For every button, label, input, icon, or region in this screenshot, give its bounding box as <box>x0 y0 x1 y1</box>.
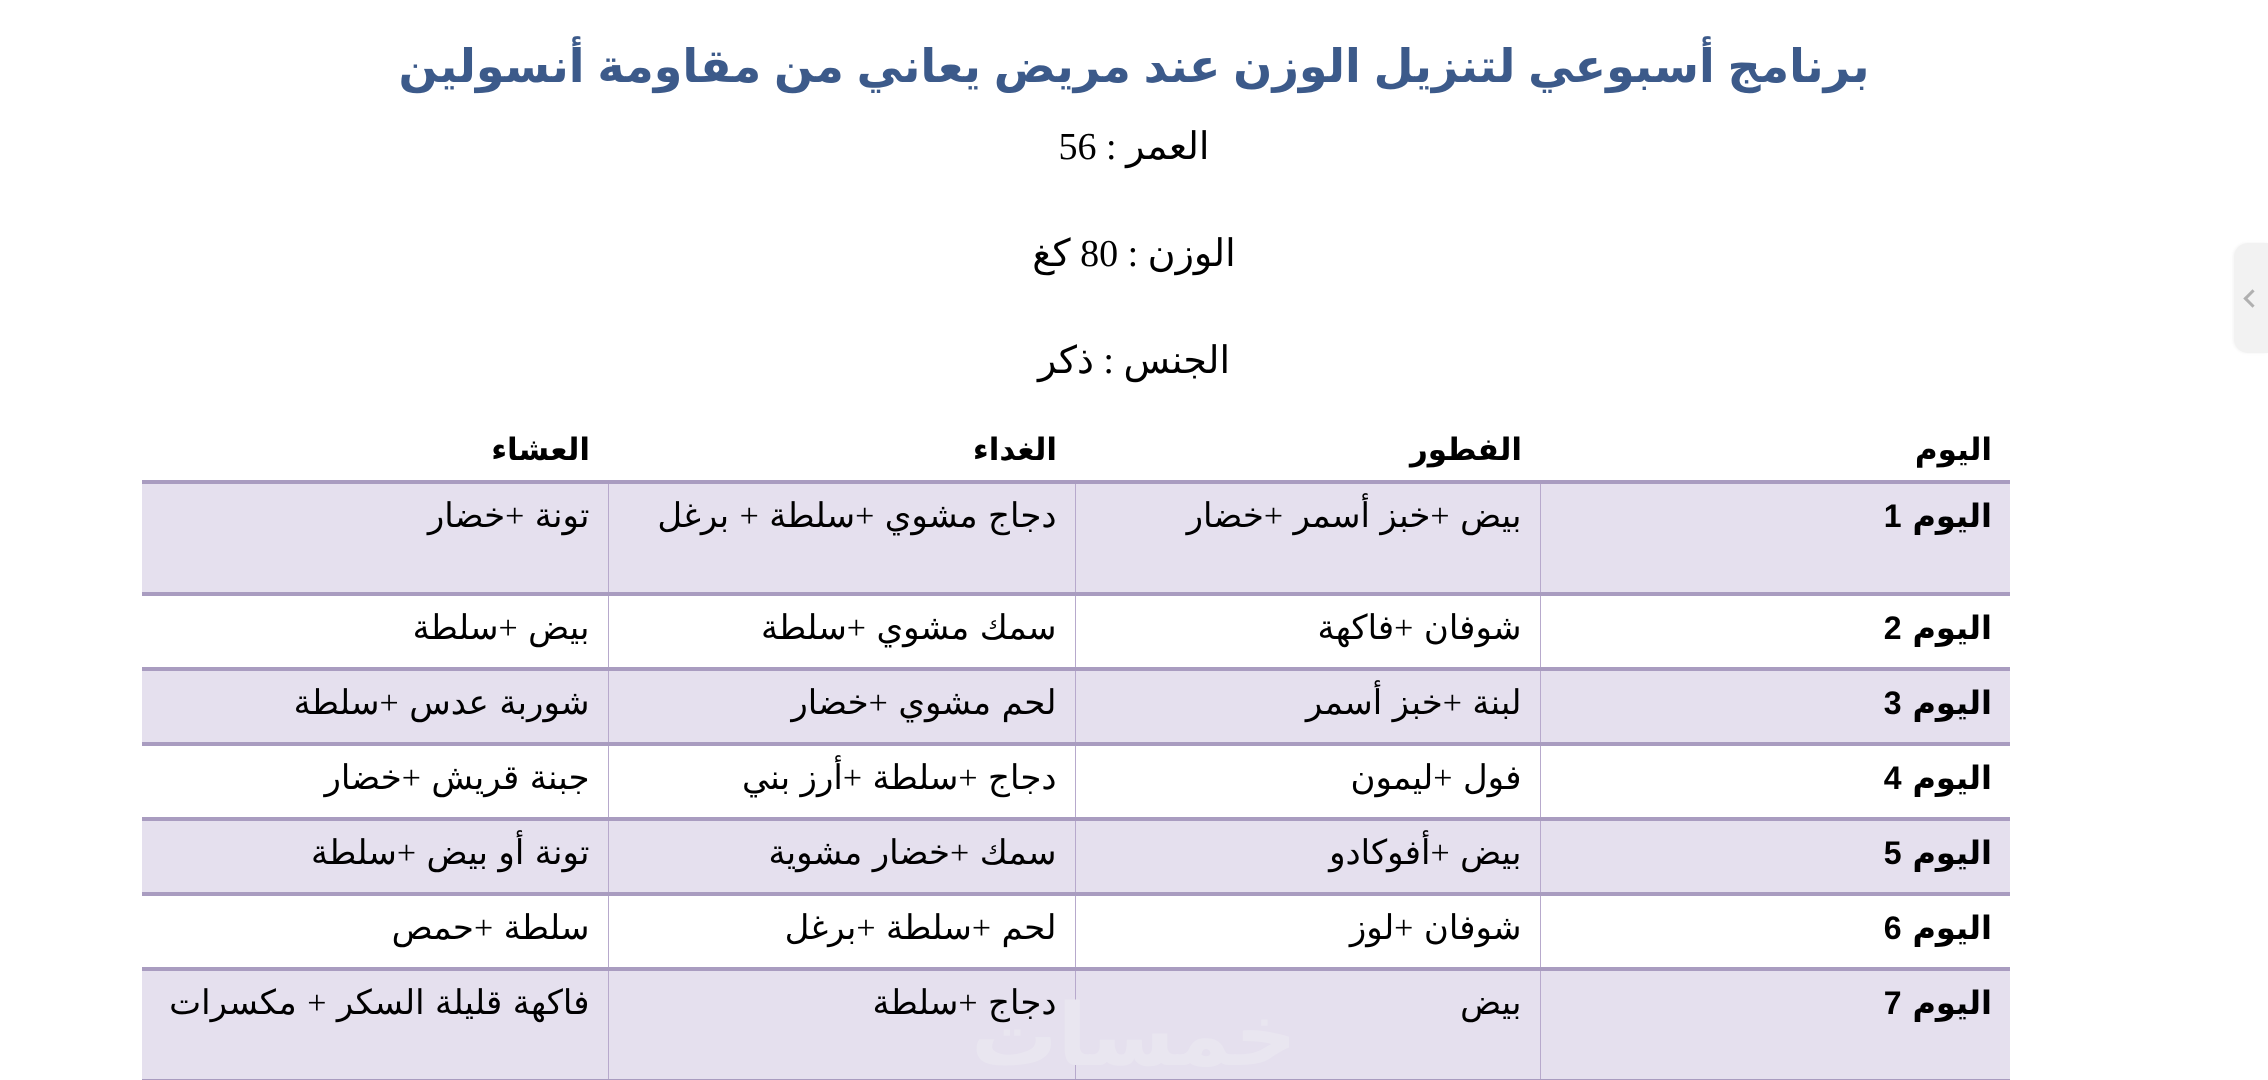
cell-breakfast: فول +ليمون <box>1075 744 1540 819</box>
cell-lunch: دجاج مشوي +سلطة + برغل <box>608 482 1075 594</box>
patient-age-line: العمر : 56 <box>0 128 2268 168</box>
table-row: اليوم 3 لبنة +خبز أسمر لحم مشوي +خضار شو… <box>142 669 2010 744</box>
cell-dinner: فاكهة قليلة السكر + مكسرات <box>142 969 608 1080</box>
table-body: اليوم 1 بيض +خبز أسمر +خضار دجاج مشوي +س… <box>142 482 2010 1080</box>
column-header-dinner: العشاء <box>142 432 608 482</box>
table-header: اليوم الفطور الغداء العشاء <box>142 432 2010 482</box>
meal-plan-table: اليوم الفطور الغداء العشاء اليوم 1 بيض +… <box>142 432 2010 1080</box>
cell-breakfast: بيض +أفوكادو <box>1075 819 1540 894</box>
cell-breakfast: شوفان +فاكهة <box>1075 594 1540 669</box>
patient-weight-line: الوزن : 80 كغ <box>0 235 2268 275</box>
meal-plan-table-wrap: اليوم الفطور الغداء العشاء اليوم 1 بيض +… <box>142 432 2010 1080</box>
cell-day: اليوم 2 <box>1540 594 2010 669</box>
cell-day: اليوم 4 <box>1540 744 2010 819</box>
cell-lunch: لحم +سلطة +برغل <box>608 894 1075 969</box>
cell-dinner: بيض +سلطة <box>142 594 608 669</box>
page-title: برنامج أسبوعي لتنزيل الوزن عند مريض يعان… <box>0 38 2268 96</box>
table-header-row: اليوم الفطور الغداء العشاء <box>142 432 2010 482</box>
cell-day: اليوم 1 <box>1540 482 2010 594</box>
cell-dinner: تونة أو بيض +سلطة <box>142 819 608 894</box>
cell-breakfast: بيض +خبز أسمر +خضار <box>1075 482 1540 594</box>
table-row: اليوم 6 شوفان +لوز لحم +سلطة +برغل سلطة … <box>142 894 2010 969</box>
cell-lunch: دجاج +سلطة +أرز بني <box>608 744 1075 819</box>
table-row: اليوم 5 بيض +أفوكادو سمك +خضار مشوية تون… <box>142 819 2010 894</box>
document-page: برنامج أسبوعي لتنزيل الوزن عند مريض يعان… <box>0 0 2268 1080</box>
patient-info-block: العمر : 56 الوزن : 80 كغ الجنس : ذكر <box>0 128 2268 382</box>
cell-day: اليوم 6 <box>1540 894 2010 969</box>
cell-day: اليوم 5 <box>1540 819 2010 894</box>
cell-dinner: شوربة عدس +سلطة <box>142 669 608 744</box>
chevron-left-icon <box>2243 289 2261 307</box>
cell-lunch: سمك مشوي +سلطة <box>608 594 1075 669</box>
cell-lunch: دجاج +سلطة <box>608 969 1075 1080</box>
cell-dinner: سلطة +حمص <box>142 894 608 969</box>
cell-breakfast: بيض <box>1075 969 1540 1080</box>
cell-lunch: لحم مشوي +خضار <box>608 669 1075 744</box>
column-header-day: اليوم <box>1540 432 2010 482</box>
cell-dinner: تونة +خضار <box>142 482 608 594</box>
cell-day: اليوم 7 <box>1540 969 2010 1080</box>
table-row: اليوم 7 بيض دجاج +سلطة فاكهة قليلة السكر… <box>142 969 2010 1080</box>
table-row: اليوم 2 شوفان +فاكهة سمك مشوي +سلطة بيض … <box>142 594 2010 669</box>
cell-dinner: جبنة قريش +خضار <box>142 744 608 819</box>
sidebar-collapse-handle[interactable] <box>2234 243 2268 353</box>
table-row: اليوم 1 بيض +خبز أسمر +خضار دجاج مشوي +س… <box>142 482 2010 594</box>
cell-breakfast: لبنة +خبز أسمر <box>1075 669 1540 744</box>
cell-breakfast: شوفان +لوز <box>1075 894 1540 969</box>
cell-day: اليوم 3 <box>1540 669 2010 744</box>
patient-gender-line: الجنس : ذكر <box>0 342 2268 382</box>
cell-lunch: سمك +خضار مشوية <box>608 819 1075 894</box>
column-header-lunch: الغداء <box>608 432 1075 482</box>
table-row: اليوم 4 فول +ليمون دجاج +سلطة +أرز بني ج… <box>142 744 2010 819</box>
column-header-breakfast: الفطور <box>1075 432 1540 482</box>
